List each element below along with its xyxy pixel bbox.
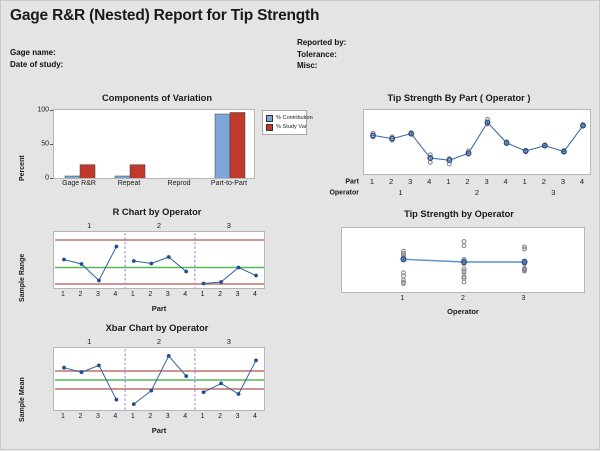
x-tick-label: 1 xyxy=(61,291,65,298)
operator-group-label: 3 xyxy=(551,188,555,197)
tolerance-label: Tolerance: xyxy=(297,49,346,61)
y-tick-label: 50 xyxy=(31,141,49,148)
reported-by-label: Reported by: xyxy=(297,37,346,49)
part-tick-label: 1 xyxy=(523,177,527,186)
x-axis-label: Operator xyxy=(341,307,585,316)
x-tick-label: 3 xyxy=(236,291,240,298)
x-tick-label: 3 xyxy=(96,291,100,298)
plot-area xyxy=(363,109,591,175)
x-tick-label: 1 xyxy=(201,413,205,420)
part-tick-label: 2 xyxy=(542,177,546,186)
operator-group-label: 3 xyxy=(227,221,231,230)
part-tick-label: 3 xyxy=(408,177,412,186)
part-tick-label: 1 xyxy=(370,177,374,186)
part-tick-label: 4 xyxy=(504,177,508,186)
y-axis-label: Sample Mean xyxy=(19,377,26,422)
x-tick-label: 2 xyxy=(79,413,83,420)
operator-group-label: 1 xyxy=(87,337,91,346)
x-tick-label: 3 xyxy=(522,295,526,302)
x-tick-label: 2 xyxy=(79,291,83,298)
legend-item[interactable]: % Contribution xyxy=(266,114,303,122)
x-axis-label: Part xyxy=(53,304,265,313)
x-tick-label: 4 xyxy=(253,413,257,420)
x-axis-label: Part xyxy=(53,426,265,435)
header-right-block: Reported by: Tolerance: Misc: xyxy=(297,37,346,72)
r-chart-by-operator: R Chart by Operator Sample Range Part 12… xyxy=(7,207,307,319)
plot-area xyxy=(53,109,255,179)
operator-group-label: 2 xyxy=(157,337,161,346)
x-tick-label: 3 xyxy=(166,413,170,420)
chart-title: Tip Strength by Operator xyxy=(323,209,595,219)
x-tick-label: 3 xyxy=(166,291,170,298)
chart-title: Xbar Chart by Operator xyxy=(7,323,307,333)
x-tick-label: 2 xyxy=(148,413,152,420)
x-tick-label: 2 xyxy=(461,295,465,302)
x-tick-label: 4 xyxy=(253,291,257,298)
x-tick-label: 1 xyxy=(61,413,65,420)
x-tick-label: 2 xyxy=(148,291,152,298)
x-tick-label: 4 xyxy=(113,291,117,298)
x-tick-label: 3 xyxy=(236,413,240,420)
y-tick xyxy=(50,144,53,145)
part-row-label: Part xyxy=(323,179,359,186)
legend-item[interactable]: % Study Var xyxy=(266,123,303,131)
x-tick-label: 4 xyxy=(183,291,187,298)
legend-label: % Contribution xyxy=(276,114,313,122)
x-tick-label: 2 xyxy=(218,291,222,298)
operator-group-label: 3 xyxy=(227,337,231,346)
part-tick-label: 3 xyxy=(561,177,565,186)
date-of-study-label: Date of study: xyxy=(10,59,63,71)
y-axis-label: Percent xyxy=(19,155,26,181)
x-tick-label: Gage R&R xyxy=(62,180,96,187)
part-tick-label: 2 xyxy=(389,177,393,186)
chart-title: R Chart by Operator xyxy=(7,207,307,217)
tip-strength-by-operator-chart: Tip Strength by Operator Operator 123 xyxy=(323,209,595,321)
components-of-variation-chart: Components of Variation Percent % Contri… xyxy=(7,93,307,198)
y-axis-label: Sample Range xyxy=(19,254,26,302)
y-tick xyxy=(50,178,53,179)
gage-name-label: Gage name: xyxy=(10,47,63,59)
operator-row-label: Operator xyxy=(323,190,359,197)
plot-area xyxy=(341,227,585,293)
chart-title: Tip Strength By Part ( Operator ) xyxy=(323,93,595,103)
misc-label: Misc: xyxy=(297,60,346,72)
legend-swatch xyxy=(266,124,273,131)
legend-swatch xyxy=(266,115,273,122)
header-left-block: Gage name: Date of study: xyxy=(10,47,63,70)
part-tick-label: 4 xyxy=(580,177,584,186)
part-tick-label: 2 xyxy=(465,177,469,186)
x-tick-label: 4 xyxy=(113,413,117,420)
x-tick-label: 2 xyxy=(218,413,222,420)
page-title: Gage R&R (Nested) Report for Tip Strengt… xyxy=(10,7,319,25)
plot-area xyxy=(53,347,265,411)
operator-group-label: 1 xyxy=(399,188,403,197)
operator-group-label: 2 xyxy=(475,188,479,197)
xbar-chart-by-operator: Xbar Chart by Operator Sample Mean Part … xyxy=(7,323,307,441)
x-tick-label: 4 xyxy=(183,413,187,420)
x-tick-label: Repeat xyxy=(118,180,141,187)
x-tick-label: 1 xyxy=(401,295,405,302)
x-tick-label: Reprod xyxy=(168,180,191,187)
chart-title: Components of Variation xyxy=(7,93,307,103)
y-tick-label: 0 xyxy=(31,175,49,182)
tip-strength-by-part-chart: Tip Strength By Part ( Operator ) PartOp… xyxy=(323,93,595,205)
y-tick xyxy=(50,110,53,111)
part-tick-label: 4 xyxy=(427,177,431,186)
x-tick-label: 3 xyxy=(96,413,100,420)
gage-rr-report-page: Gage R&R (Nested) Report for Tip Strengt… xyxy=(1,1,600,451)
x-tick-label: Part-to-Part xyxy=(211,180,247,187)
x-tick-label: 1 xyxy=(131,413,135,420)
y-tick-label: 100 xyxy=(31,107,49,114)
x-tick-label: 1 xyxy=(131,291,135,298)
part-tick-label: 1 xyxy=(446,177,450,186)
operator-group-label: 1 xyxy=(87,221,91,230)
plot-area xyxy=(53,231,265,289)
legend-label: % Study Var xyxy=(276,123,307,131)
operator-group-label: 2 xyxy=(157,221,161,230)
chart-legend: % Contribution% Study Var xyxy=(262,110,307,135)
x-tick-label: 1 xyxy=(201,291,205,298)
part-tick-label: 3 xyxy=(484,177,488,186)
